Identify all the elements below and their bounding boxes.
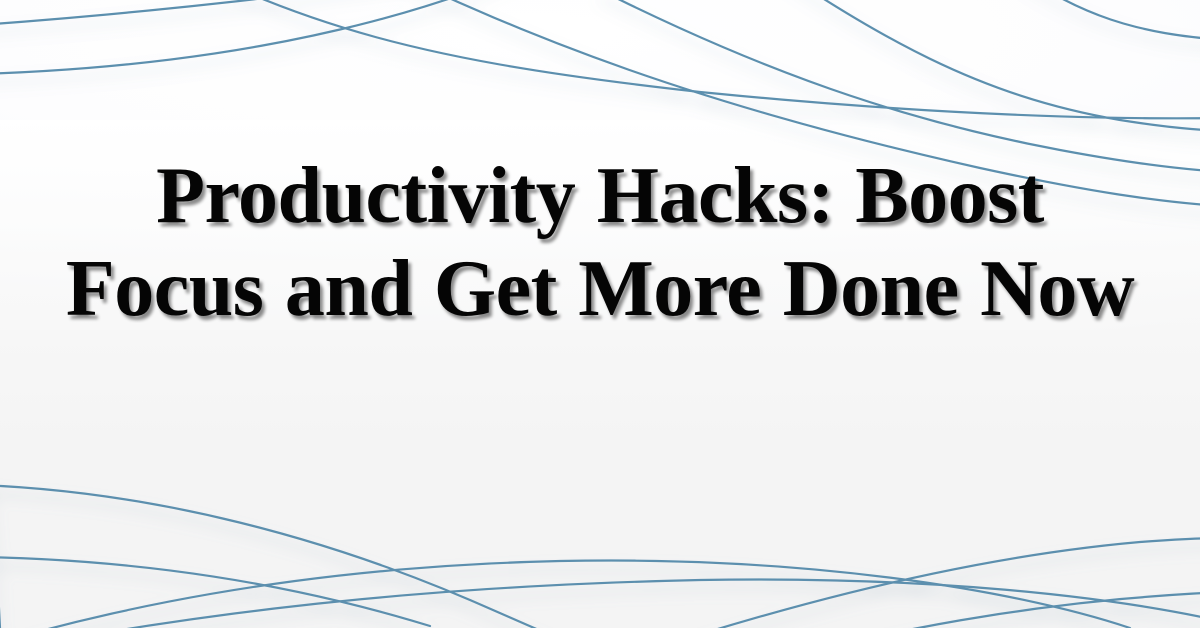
- arc-bottom-2: [0, 557, 430, 626]
- arc-bottom-6: [700, 592, 1200, 628]
- arc-top-7: [600, 0, 1200, 172]
- arc-top-6: [1000, 0, 1200, 40]
- arc-bottom-1: [0, 485, 600, 628]
- page-title: Productivity Hacks: Boost Focus and Get …: [60, 150, 1140, 336]
- arc-group-bottom: [0, 480, 1200, 628]
- title-block: Productivity Hacks: Boost Focus and Get …: [0, 150, 1200, 336]
- banner-canvas: Productivity Hacks: Boost Focus and Get …: [0, 0, 1200, 628]
- arc-bottom-3: [0, 560, 1130, 628]
- arc-top-2: [0, 0, 640, 74]
- arc-bottom-4: [0, 579, 1200, 628]
- arc-top-3: [120, 0, 1200, 118]
- arc-top-1: [0, 0, 760, 25]
- arc-top-5: [735, 0, 1200, 131]
- arc-bottom-5: [620, 538, 1200, 628]
